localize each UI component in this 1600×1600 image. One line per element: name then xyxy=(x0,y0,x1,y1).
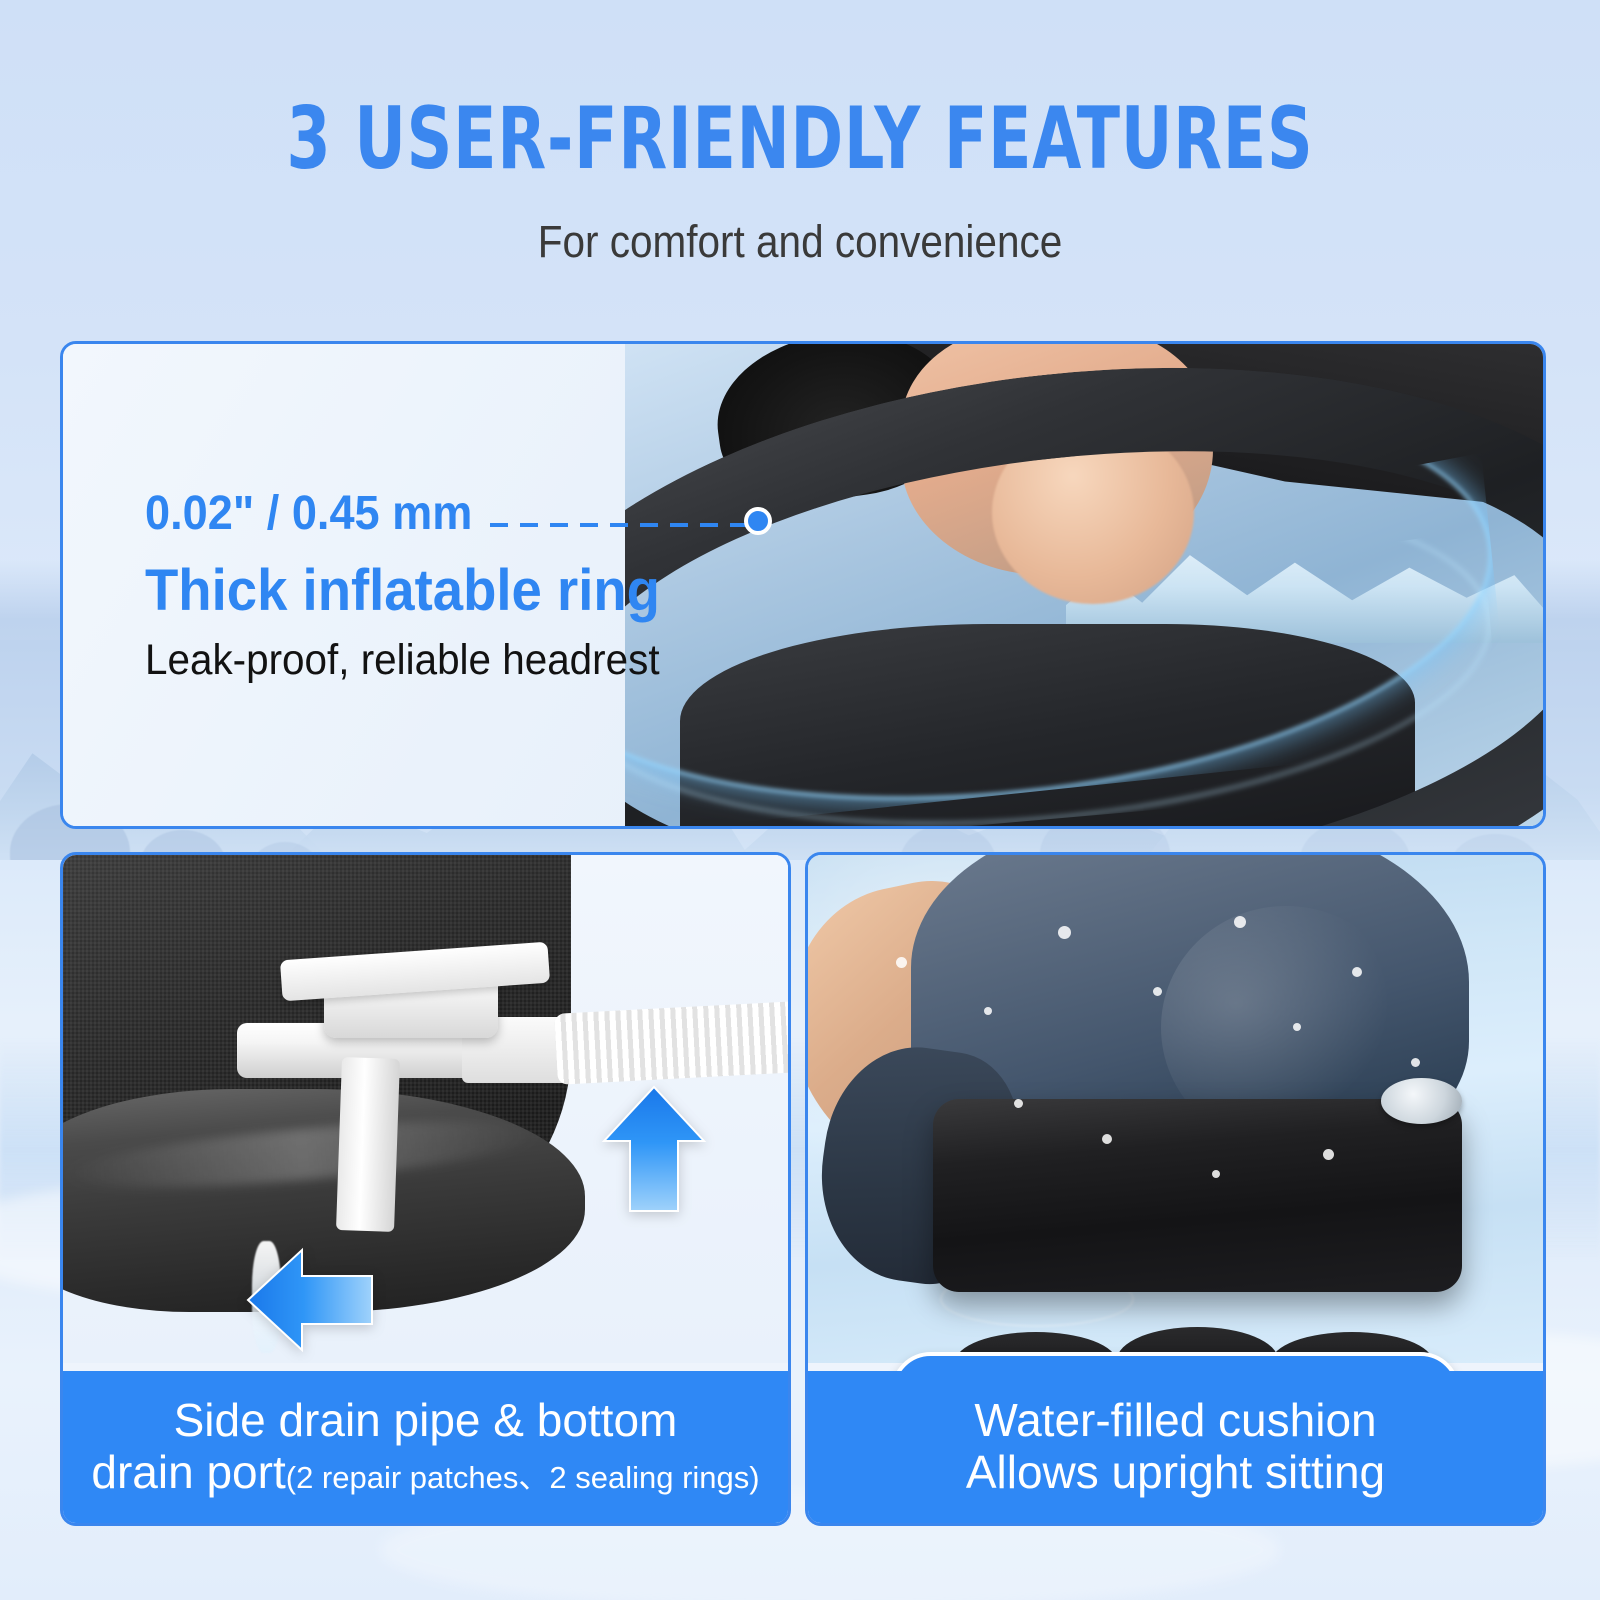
cushion-photo xyxy=(808,855,1543,1363)
drain-corrugated-hose xyxy=(554,1001,788,1086)
page-title: 3 USER-FRIENDLY FEATURES xyxy=(144,96,1456,182)
water-filled-cushion xyxy=(933,1099,1462,1292)
cushion-air-valve xyxy=(1381,1078,1462,1124)
arrow-up-icon xyxy=(600,1083,708,1215)
callout-leader-dot-icon xyxy=(744,507,772,535)
feature-panel-cushion: 14.4" x 9.8" / 36.5 x 25cm Water-filled … xyxy=(805,852,1546,1526)
header: 3 USER-FRIENDLY FEATURES For comfort and… xyxy=(0,96,1600,268)
cushion-caption-bar: Water-filled cushion Allows upright sitt… xyxy=(808,1371,1543,1523)
cushion-caption-line-2: Allows upright sitting xyxy=(966,1447,1385,1499)
arrow-left-icon xyxy=(244,1246,376,1354)
ring-feature-title: Thick inflatable ring xyxy=(145,557,747,624)
page-subtitle: For comfort and convenience xyxy=(80,216,1520,268)
ring-feature-description: Leak-proof, reliable headrest xyxy=(145,636,747,685)
callout-leader-line xyxy=(490,523,760,527)
feature-panel-drain: Side drain pipe & bottom drain port(2 re… xyxy=(60,852,791,1526)
cushion-caption-line-1: Water-filled cushion xyxy=(966,1395,1385,1447)
drain-caption-line-2-small: (2 repair patches、2 sealing rings) xyxy=(286,1460,760,1495)
drain-caption-line-1: Side drain pipe & bottom xyxy=(91,1395,759,1447)
feature-panel-inflatable-ring: 0.02" / 0.45 mm Thick inflatable ring Le… xyxy=(60,341,1546,829)
ring-thickness-value: 0.02" / 0.45 mm xyxy=(145,486,747,541)
drain-photo xyxy=(63,855,788,1363)
ring-callout: 0.02" / 0.45 mm Thick inflatable ring Le… xyxy=(145,486,785,685)
drain-caption-line-2-bold: drain port xyxy=(91,1446,285,1498)
drain-pipe-vertical xyxy=(336,1057,400,1232)
drain-caption-bar: Side drain pipe & bottom drain port(2 re… xyxy=(63,1371,788,1523)
